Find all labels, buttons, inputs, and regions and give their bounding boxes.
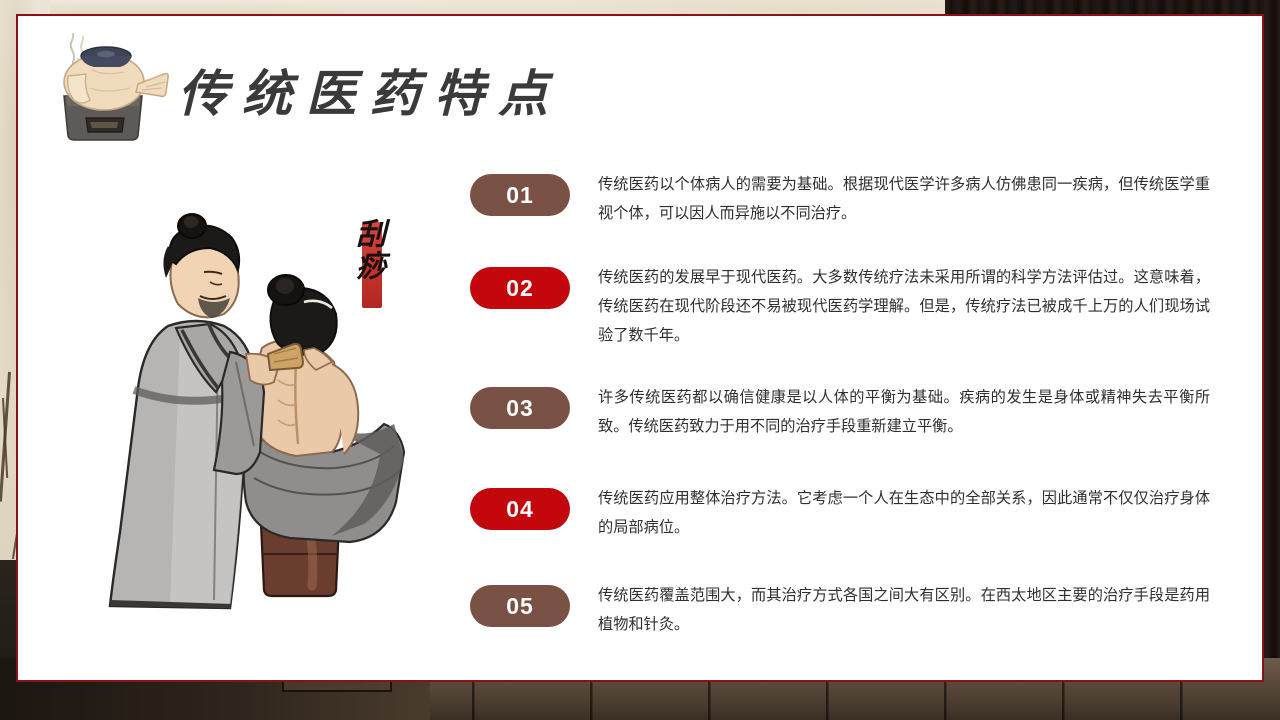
- list-item-text: 传统医药以个体病人的需要为基础。根据现代医学许多病人仿佛患同一疾病，但传统医学重…: [598, 170, 1210, 228]
- page-title: 传统医药特点: [178, 54, 562, 126]
- list-item-text: 许多传统医药都以确信健康是以人体的平衡为基础。疾病的发生是身体或精神失去平衡所致…: [598, 383, 1210, 441]
- medicine-pot-icon: [32, 30, 172, 145]
- seal-caption-text: 刮痧: [348, 218, 388, 282]
- gua-sha-illustration: 刮痧: [64, 202, 474, 642]
- list-item-badge: 05: [470, 585, 570, 627]
- list-item-text: 传统医药覆盖范围大，而其治疗方式各国之间大有区别。在西太地区主要的治疗手段是药用…: [598, 581, 1210, 639]
- list-item-badge: 01: [470, 174, 570, 216]
- slide-root: 传统医药特点: [0, 0, 1280, 720]
- list-item-text: 传统医药应用整体治疗方法。它考虑一个人在生态中的全部关系，因此通常不仅仅治疗身体…: [598, 484, 1210, 542]
- list-item-badge: 04: [470, 488, 570, 530]
- list-item[interactable]: 03 许多传统医药都以确信健康是以人体的平衡为基础。疾病的发生是身体或精神失去平…: [470, 387, 1210, 441]
- seal-caption: 刮痧: [348, 218, 394, 310]
- list-item-badge: 03: [470, 387, 570, 429]
- list-item[interactable]: 01 传统医药以个体病人的需要为基础。根据现代医学许多病人仿佛患同一疾病，但传统…: [470, 174, 1210, 228]
- list-item[interactable]: 05 传统医药覆盖范围大，而其治疗方式各国之间大有区别。在西太地区主要的治疗手段…: [470, 585, 1210, 639]
- slide-header: 传统医药特点: [18, 16, 1262, 156]
- slide-card: 传统医药特点: [16, 14, 1264, 682]
- list-item[interactable]: 04 传统医药应用整体治疗方法。它考虑一个人在生态中的全部关系，因此通常不仅仅治…: [470, 488, 1210, 542]
- list-item-text: 传统医药的发展早于现代医药。大多数传统疗法未采用所谓的科学方法评估过。这意味着，…: [598, 263, 1210, 350]
- list-item-badge: 02: [470, 267, 570, 309]
- list-item[interactable]: 02 传统医药的发展早于现代医药。大多数传统疗法未采用所谓的科学方法评估过。这意…: [470, 267, 1210, 350]
